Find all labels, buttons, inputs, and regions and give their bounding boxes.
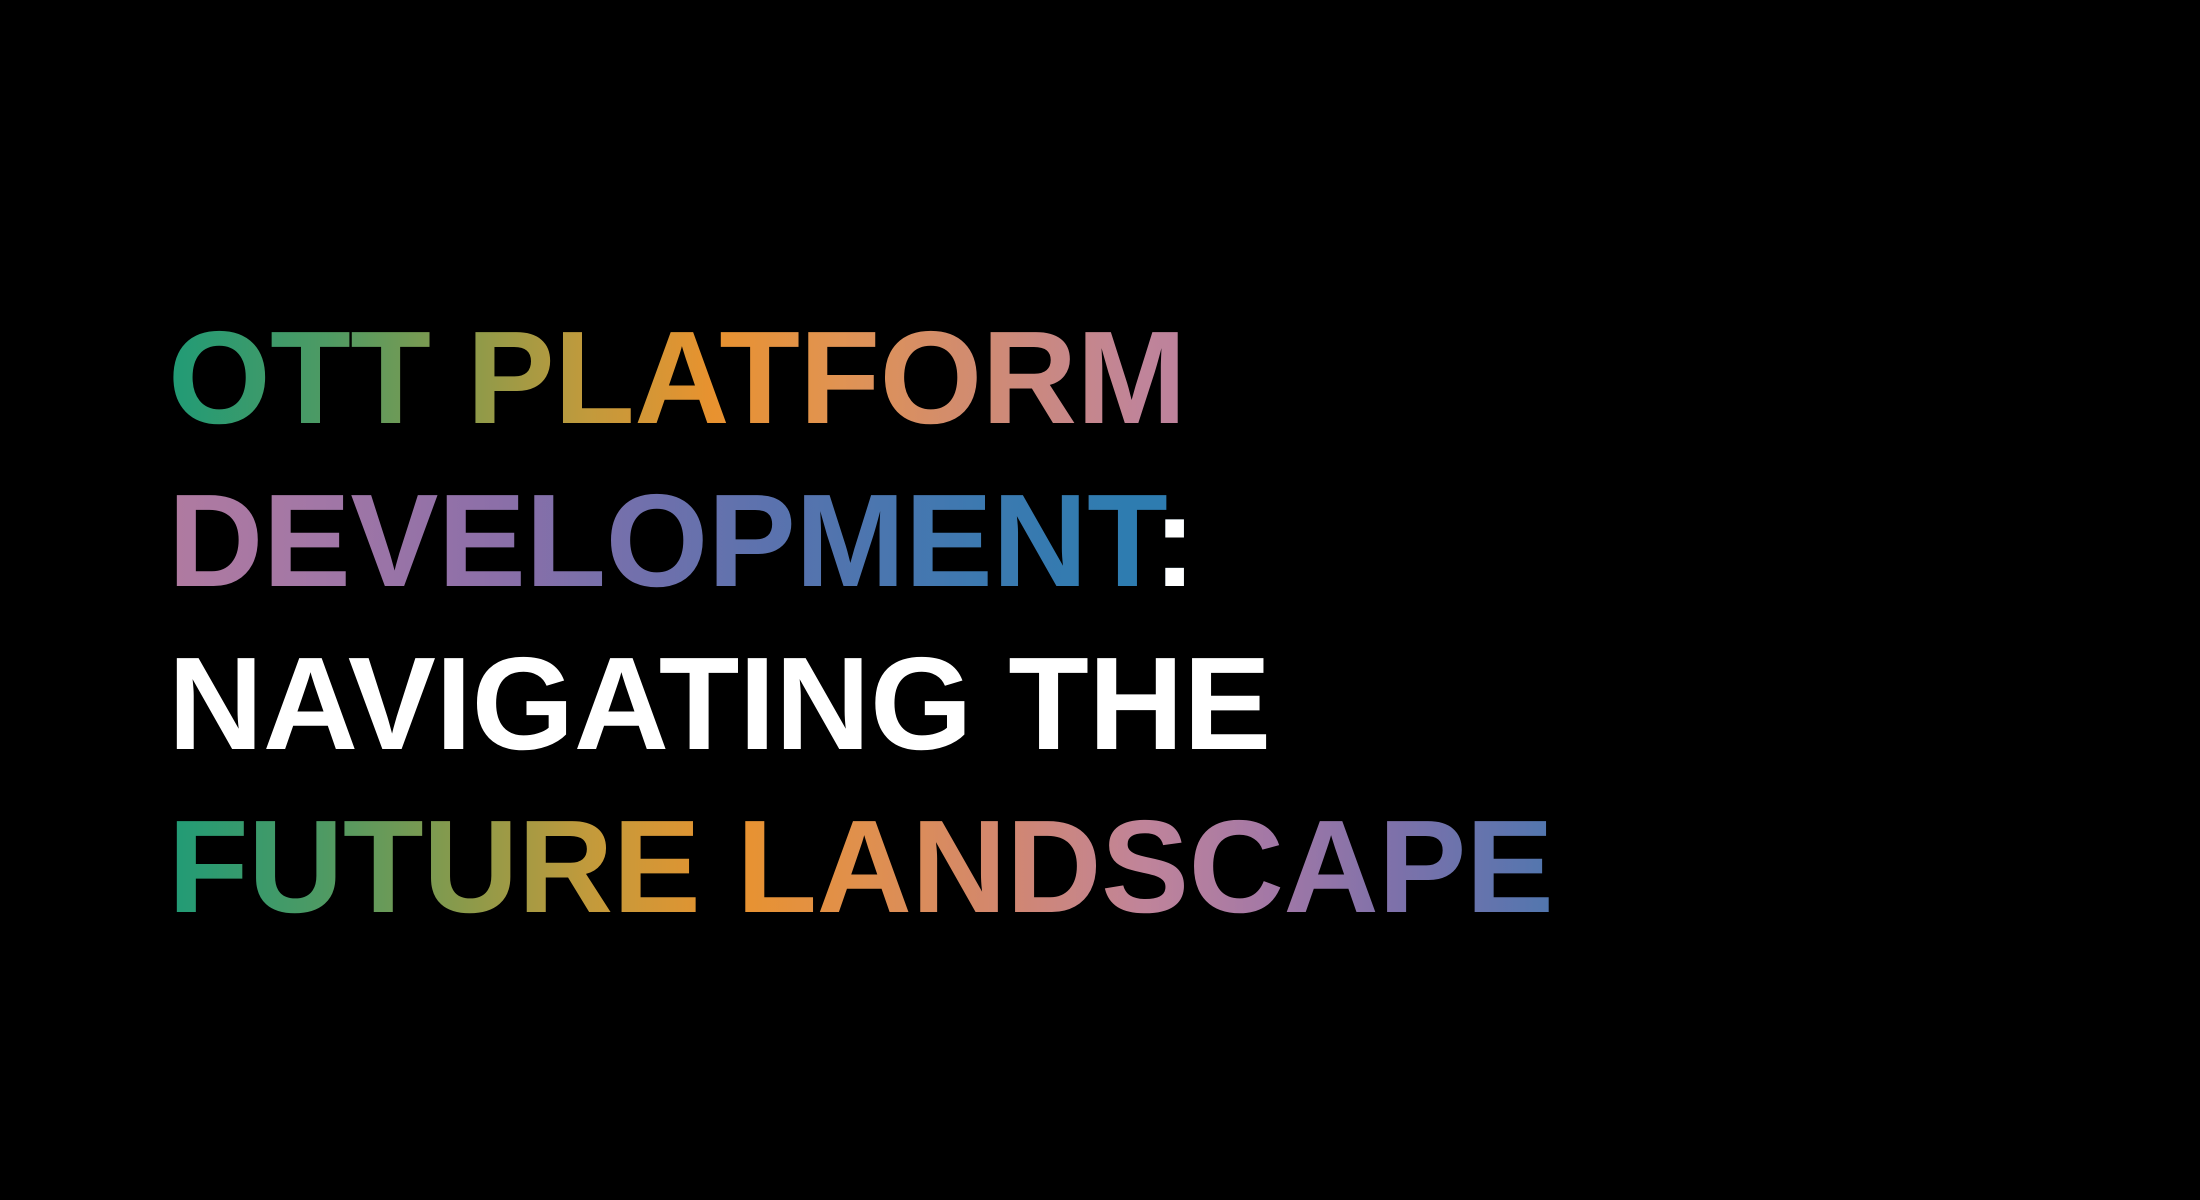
title-line-2-text: DEVELOPMENT xyxy=(168,467,1153,614)
title-line-1: OTT PLATFORM xyxy=(168,296,1868,459)
title-line-4: FUTURE LANDSCAPE xyxy=(168,785,1868,948)
title-slide: OTT PLATFORM DEVELOPMENT: NAVIGATING THE… xyxy=(0,0,2200,1200)
title-colon: : xyxy=(1153,467,1196,614)
slide-title-block: OTT PLATFORM DEVELOPMENT: NAVIGATING THE… xyxy=(168,296,1868,948)
title-line-3: NAVIGATING THE xyxy=(168,622,1868,785)
title-line-2: DEVELOPMENT: xyxy=(168,459,1868,622)
